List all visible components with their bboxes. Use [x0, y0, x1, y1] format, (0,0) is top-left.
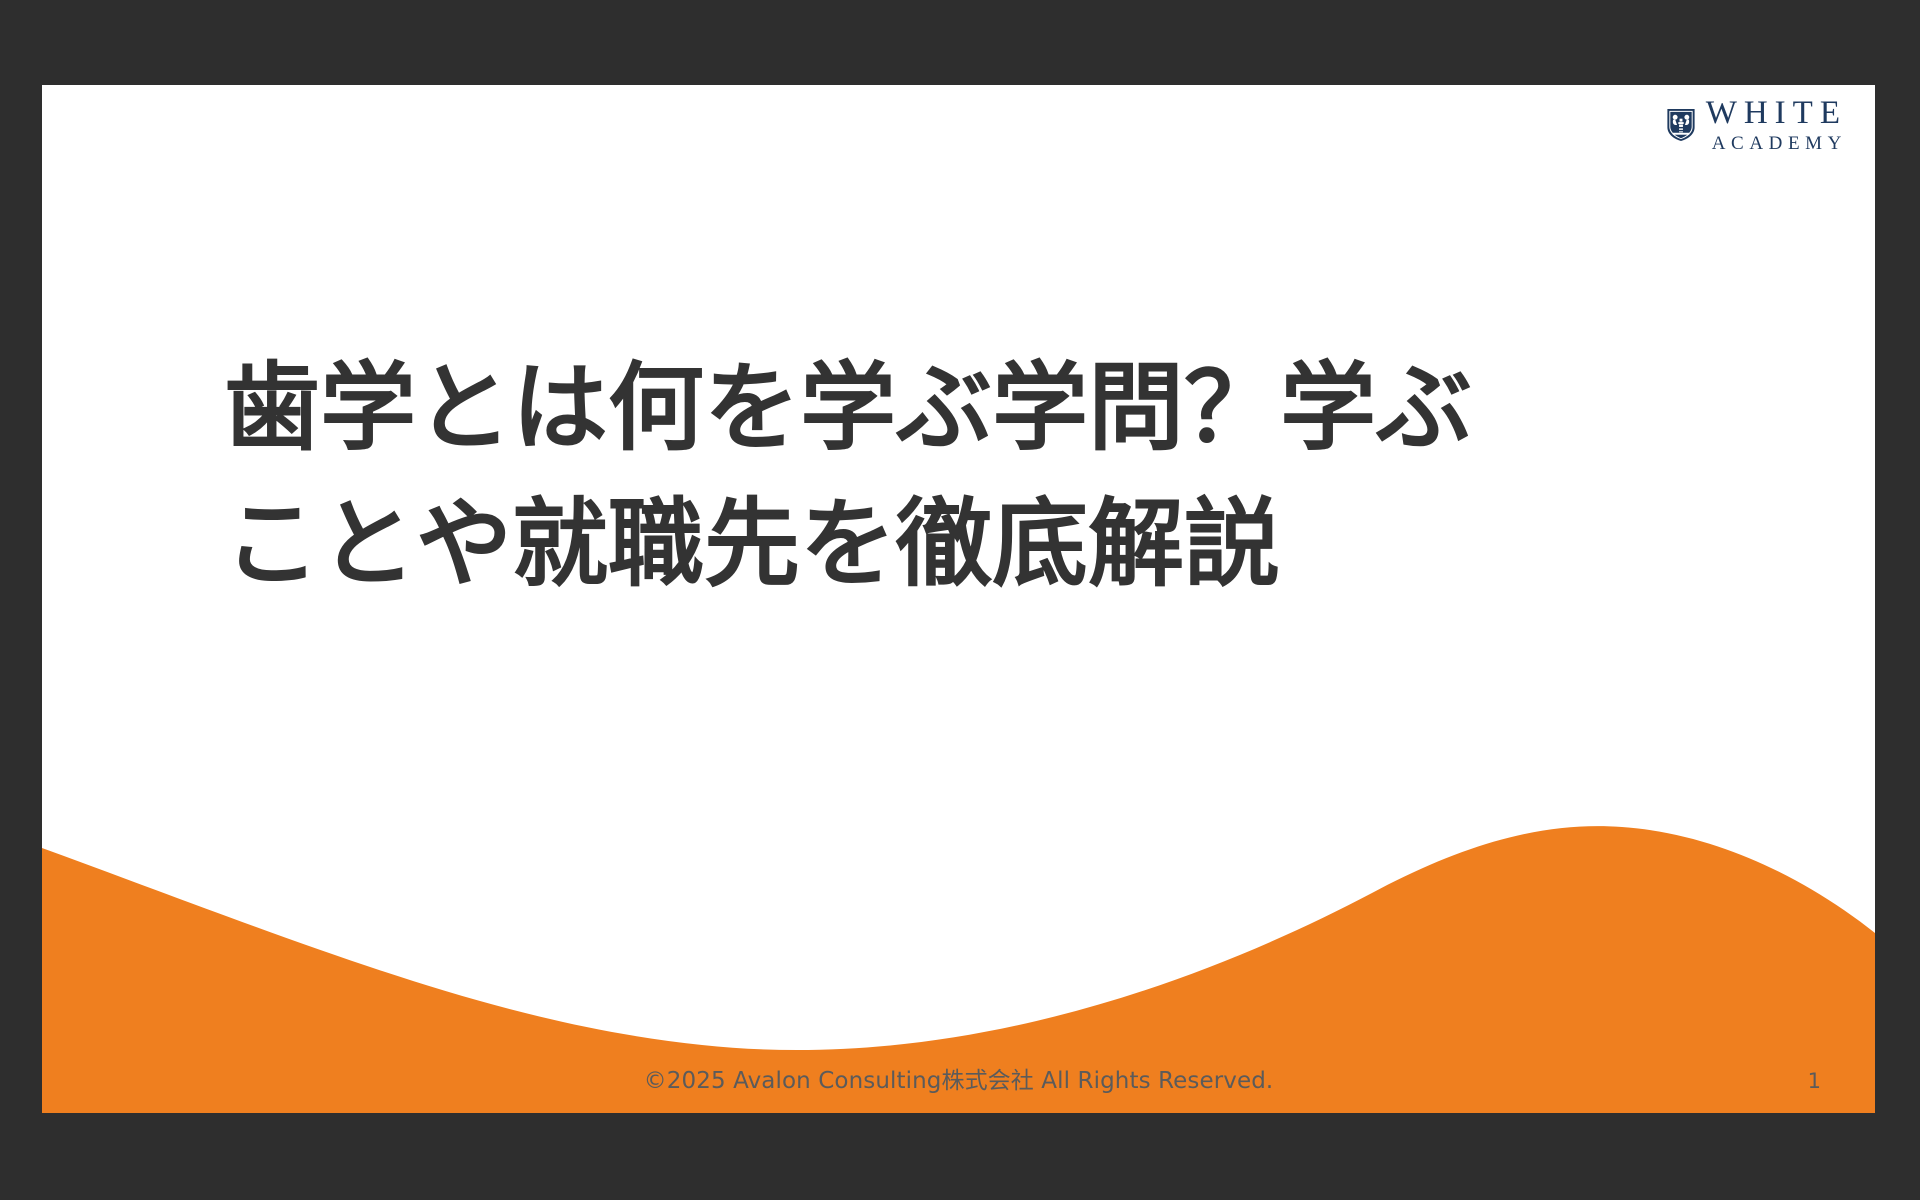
- presentation-slide: WHITE ACADEMY 歯学とは何を学ぶ学問？学ぶ ことや就職先を徹底解説 …: [42, 85, 1875, 1113]
- footer-page-number: 1: [1808, 1069, 1821, 1093]
- logo-wordmark: WHITE ACADEMY: [1706, 97, 1847, 153]
- screenshot-viewport: WHITE ACADEMY 歯学とは何を学ぶ学問？学ぶ ことや就職先を徹底解説 …: [0, 0, 1920, 1200]
- title-line-2: ことや就職先を徹底解説: [224, 476, 1554, 612]
- page-title: 歯学とは何を学ぶ学問？学ぶ ことや就職先を徹底解説: [224, 340, 1554, 613]
- orange-wave-decoration: [42, 693, 1875, 1113]
- brand-logo: WHITE ACADEMY: [1666, 97, 1847, 153]
- footer-copyright: ©2025 Avalon Consulting株式会社 All Rights R…: [42, 1061, 1875, 1095]
- logo-secondary-text: ACADEMY: [1706, 134, 1847, 153]
- title-line-1: 歯学とは何を学ぶ学問？学ぶ: [224, 340, 1554, 476]
- logo-primary-text: WHITE: [1706, 97, 1847, 130]
- wave-shape: [42, 693, 1875, 1113]
- shield-crest-icon: [1666, 108, 1696, 142]
